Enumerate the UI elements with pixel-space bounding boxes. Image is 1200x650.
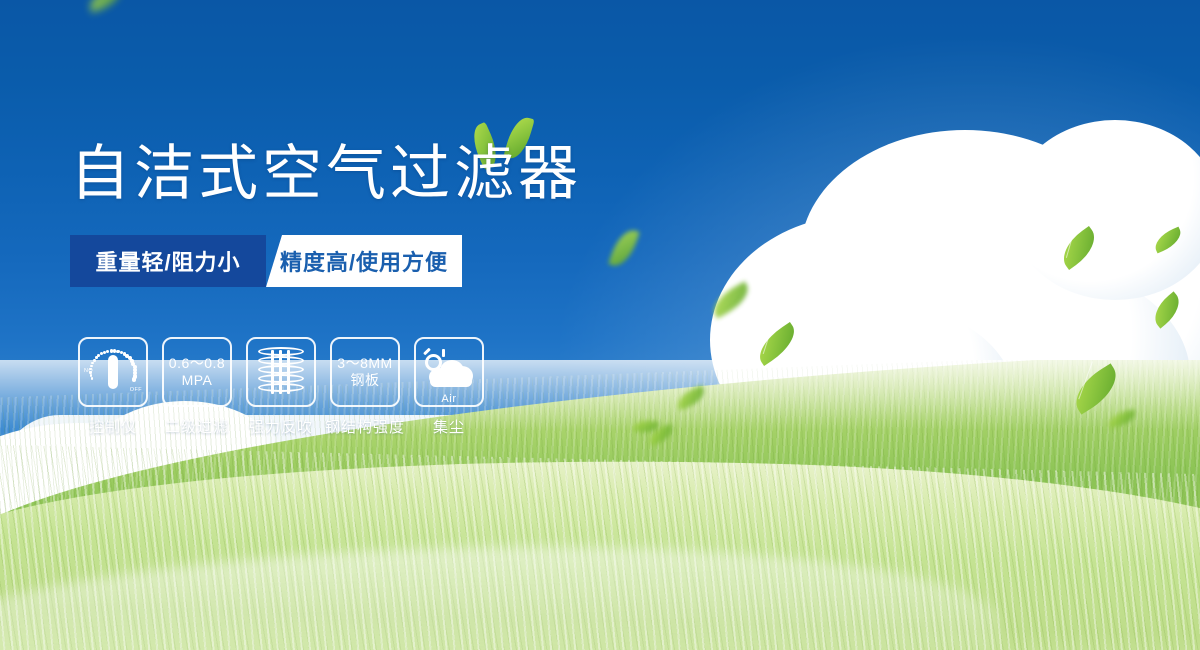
feature-item-controller[interactable]: NO OFF 控制仪 (78, 337, 148, 437)
feature-label: 钢结构强度 (325, 416, 405, 437)
hill-foreground (0, 443, 1200, 650)
feature-label: 强力反吹 (249, 416, 313, 437)
tagline-left-text: 重量轻/阻力小 (95, 245, 240, 277)
tagline-bar: 重量轻/阻力小 精度高/使用方便 (70, 235, 462, 287)
pressure-text-icon: 0.6～0.8 MPA (169, 355, 225, 388)
feature-icon-row: NO OFF 控制仪 0.6～0.8 MPA 二级过滤 (78, 337, 484, 437)
feature-icon-text-line2: MPA (169, 372, 225, 389)
feature-label: 二级过滤 (165, 416, 229, 437)
feature-icon-box: 3～8MM 钢板 (330, 337, 400, 407)
page-title: 自洁式空气过滤器 (70, 142, 582, 205)
feature-item-blowback[interactable]: 强力反吹 (246, 337, 316, 437)
feature-item-secondary-filter[interactable]: 0.6～0.8 MPA 二级过滤 (162, 337, 232, 437)
feature-icon-text-line1: 0.6～0.8 (169, 355, 225, 372)
tagline-left-panel: 重量轻/阻力小 (70, 235, 266, 287)
feature-icon-box: Air (414, 337, 484, 407)
feature-icon-box: 0.6～0.8 MPA (162, 337, 232, 407)
feature-icon-box: NO OFF (78, 337, 148, 407)
steel-plate-text-icon: 3～8MM 钢板 (337, 355, 392, 388)
tagline-right-panel: 精度高/使用方便 (266, 235, 462, 287)
feature-label: 控制仪 (89, 416, 137, 437)
feature-item-dust-collection[interactable]: Air 集尘 (414, 337, 484, 437)
gauge-icon: NO OFF (85, 346, 141, 398)
product-banner: 自洁式空气过滤器 重量轻/阻力小 精度高/使用方便 NO OFF 控制仪 (0, 0, 1200, 650)
tagline-right-text: 精度高/使用方便 (280, 245, 448, 277)
feature-label: 集尘 (433, 416, 465, 437)
air-caption: Air (423, 393, 475, 405)
gauge-off-label: OFF (130, 387, 142, 393)
feature-icon-box (246, 337, 316, 407)
cloud-air-icon: Air (423, 348, 475, 396)
feature-icon-text-line1: 3～8MM (337, 355, 392, 372)
coil-blowback-icon (258, 347, 304, 397)
feature-icon-text-line2: 钢板 (337, 372, 392, 389)
feature-item-steel-strength[interactable]: 3～8MM 钢板 钢结构强度 (330, 337, 400, 437)
